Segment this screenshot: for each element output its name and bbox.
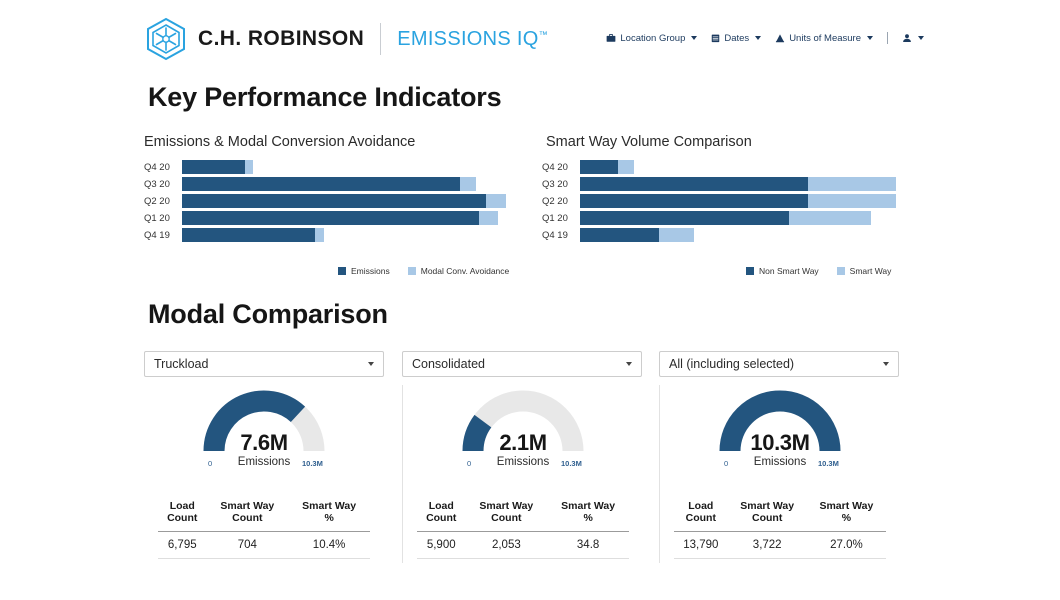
bar-segment-emissions (182, 177, 460, 191)
bar-category-label: Q2 20 (144, 196, 182, 207)
gauge-caption-label: Emissions (403, 456, 643, 468)
legend-swatch-icon (837, 267, 845, 275)
brand-lockup: C.H. ROBINSON EMISSIONS IQ™ (144, 17, 548, 61)
bar-category-label: Q4 20 (144, 162, 182, 173)
table-cell: 27.0% (807, 532, 886, 559)
mode-select[interactable]: Truckload (144, 351, 384, 377)
bar-segment-non-smart-way (580, 211, 789, 225)
table-row: 5,9002,05334.8 (417, 532, 629, 559)
service-select-value: Consolidated (412, 357, 485, 371)
bar-segment-non-smart-way (580, 194, 808, 208)
bar-row: Q2 20 (144, 194, 514, 208)
gauge-caption-label: Emissions (144, 456, 384, 468)
nav-dates-label: Dates (724, 33, 749, 44)
table-column-header: LoadCount (158, 497, 206, 532)
legend-label: Smart Way (850, 266, 892, 276)
bar-segment-emissions (182, 228, 315, 242)
gauge-caption-label: Emissions (660, 456, 900, 468)
table-cell: 2,053 (465, 532, 547, 559)
bar-track (182, 194, 514, 208)
user-icon (902, 33, 912, 43)
emissions-bar-chart: Q4 20Q3 20Q2 20Q1 20Q4 19 (144, 160, 514, 245)
gauge-max-label: 10.3M (818, 459, 839, 468)
bar-category-label: Q2 20 (542, 196, 580, 207)
bar-track (182, 177, 514, 191)
chevron-down-icon (918, 36, 924, 40)
trademark-symbol: ™ (539, 29, 548, 39)
bar-row: Q3 20 (144, 177, 514, 191)
chevron-down-icon (755, 36, 761, 40)
bar-category-label: Q4 20 (542, 162, 580, 173)
brand-divider (380, 23, 381, 55)
legend-swatch-icon (338, 267, 346, 275)
bar-segment-modal-conv-avoidance (486, 194, 507, 208)
bar-segment-non-smart-way (580, 177, 808, 191)
modal-panel-all: 10.3MEmissions010.3MLoadCountSmart WayCo… (659, 385, 899, 563)
nav-divider (887, 32, 888, 44)
bar-row: Q4 20 (144, 160, 514, 174)
table-row: 6,79570410.4% (158, 532, 370, 559)
chart-title-smartway: Smart Way Volume Comparison (546, 134, 752, 150)
bar-track (182, 160, 514, 174)
bar-category-label: Q4 19 (542, 230, 580, 241)
chevron-down-icon (626, 362, 632, 366)
bar-segment-emissions (182, 160, 245, 174)
bar-segment-modal-conv-avoidance (315, 228, 324, 242)
chevron-down-icon (867, 36, 873, 40)
bar-row: Q2 20 (542, 194, 912, 208)
bar-category-label: Q1 20 (542, 213, 580, 224)
bar-segment-modal-conv-avoidance (479, 211, 498, 225)
smartway-chart-legend: Non Smart WaySmart Way (746, 266, 891, 276)
nav-account[interactable] (902, 33, 924, 43)
chart-title-emissions: Emissions & Modal Conversion Avoidance (144, 134, 415, 150)
bar-segment-smart-way (789, 211, 871, 225)
gauge-value-label: 2.1M (403, 430, 643, 456)
bar-category-label: Q3 20 (144, 179, 182, 190)
chevron-down-icon (883, 362, 889, 366)
legend-label: Modal Conv. Avoidance (421, 266, 510, 276)
legend-label: Non Smart Way (759, 266, 819, 276)
bar-track (580, 177, 912, 191)
table-column-header: Smart WayCount (728, 497, 807, 532)
emissions-chart-legend: EmissionsModal Conv. Avoidance (338, 266, 509, 276)
bar-row: Q1 20 (542, 211, 912, 225)
dashboard-page: C.H. ROBINSON EMISSIONS IQ™ Location Gro… (0, 0, 1060, 600)
legend-swatch-icon (746, 267, 754, 275)
product-name-text: EMISSIONS IQ (397, 28, 538, 50)
page-title-modal: Modal Comparison (148, 299, 388, 330)
table-cell: 13,790 (674, 532, 728, 559)
bar-segment-smart-way (808, 194, 897, 208)
bar-segment-modal-conv-avoidance (245, 160, 253, 174)
metrics-table: LoadCountSmart WayCountSmart Way%13,7903… (674, 497, 886, 559)
legend-item[interactable]: Emissions (338, 266, 390, 276)
table-cell: 3,722 (728, 532, 807, 559)
bar-segment-smart-way (659, 228, 694, 242)
table-header-row: LoadCountSmart WayCountSmart Way% (674, 497, 886, 532)
legend-item[interactable]: Modal Conv. Avoidance (408, 266, 510, 276)
bar-category-label: Q1 20 (144, 213, 182, 224)
chevron-down-icon (691, 36, 697, 40)
table-cell: 5,900 (417, 532, 465, 559)
bar-track (580, 194, 912, 208)
nav-location-group-label: Location Group (620, 33, 685, 44)
gauge-min-label: 0 (467, 459, 471, 468)
bar-row: Q4 19 (542, 228, 912, 242)
gauge-value-label: 10.3M (660, 430, 900, 456)
legend-item[interactable]: Smart Way (837, 266, 892, 276)
hexagon-snowflake-logo-icon (144, 17, 188, 61)
table-column-header: Smart Way% (547, 497, 629, 532)
nav-units-of-measure-label: Units of Measure (789, 33, 861, 44)
bar-segment-smart-way (808, 177, 897, 191)
modal-panel-truckload: 7.6MEmissions010.3MLoadCountSmart WayCou… (144, 385, 384, 563)
table-row: 13,7903,72227.0% (674, 532, 886, 559)
table-cell: 6,795 (158, 532, 206, 559)
bar-row: Q1 20 (144, 211, 514, 225)
legend-swatch-icon (408, 267, 416, 275)
nav-location-group[interactable]: Location Group (606, 33, 697, 44)
table-column-header: Smart WayCount (465, 497, 547, 532)
service-select[interactable]: Consolidated (402, 351, 642, 377)
legend-item[interactable]: Non Smart Way (746, 266, 819, 276)
bar-segment-non-smart-way (580, 228, 659, 242)
bar-track (580, 160, 912, 174)
table-cell: 34.8 (547, 532, 629, 559)
nav-dates[interactable]: Dates (711, 33, 761, 44)
app-header: C.H. ROBINSON EMISSIONS IQ™ Location Gro… (0, 0, 1060, 72)
bar-category-label: Q3 20 (542, 179, 580, 190)
table-column-header: Smart WayCount (206, 497, 288, 532)
gauge-max-label: 10.3M (302, 459, 323, 468)
bar-track (182, 228, 514, 242)
table-cell: 10.4% (288, 532, 370, 559)
bar-segment-non-smart-way (580, 160, 618, 174)
table-column-header: Smart Way% (807, 497, 886, 532)
modal-panel-consolidated: 2.1MEmissions010.3MLoadCountSmart WayCou… (402, 385, 642, 563)
table-column-header: LoadCount (417, 497, 465, 532)
scale-icon (775, 33, 785, 43)
bar-track (580, 228, 912, 242)
bar-segment-modal-conv-avoidance (460, 177, 476, 191)
table-header-row: LoadCountSmart WayCountSmart Way% (417, 497, 629, 532)
table-column-header: Smart Way% (288, 497, 370, 532)
legend-label: Emissions (351, 266, 390, 276)
bar-segment-smart-way (618, 160, 634, 174)
page-title-kpi: Key Performance Indicators (148, 82, 501, 113)
scope-select-value: All (including selected) (669, 357, 794, 371)
gauge-max-label: 10.3M (561, 459, 582, 468)
table-column-header: LoadCount (674, 497, 728, 532)
bar-segment-emissions (182, 211, 479, 225)
scope-select[interactable]: All (including selected) (659, 351, 899, 377)
chevron-down-icon (368, 362, 374, 366)
bar-track (580, 211, 912, 225)
product-name: EMISSIONS IQ™ (397, 28, 548, 51)
bar-segment-emissions (182, 194, 486, 208)
mode-select-value: Truckload (154, 357, 208, 371)
smartway-bar-chart: Q4 20Q3 20Q2 20Q1 20Q4 19 (542, 160, 912, 245)
gauge-chart: 7.6MEmissions010.3M (144, 385, 384, 477)
gauge-value-label: 7.6M (144, 430, 384, 456)
briefcase-icon (606, 33, 616, 43)
gauge-chart: 10.3MEmissions010.3M (660, 385, 900, 477)
nav-units-of-measure[interactable]: Units of Measure (775, 33, 873, 44)
metrics-table: LoadCountSmart WayCountSmart Way%5,9002,… (417, 497, 629, 559)
gauge-chart: 2.1MEmissions010.3M (403, 385, 643, 477)
calendar-icon (711, 33, 720, 43)
brand-name: C.H. ROBINSON (198, 27, 364, 51)
bar-category-label: Q4 19 (144, 230, 182, 241)
bar-track (182, 211, 514, 225)
gauge-min-label: 0 (724, 459, 728, 468)
bar-row: Q4 20 (542, 160, 912, 174)
bar-row: Q3 20 (542, 177, 912, 191)
table-cell: 704 (206, 532, 288, 559)
gauge-min-label: 0 (208, 459, 212, 468)
bar-row: Q4 19 (144, 228, 514, 242)
table-header-row: LoadCountSmart WayCountSmart Way% (158, 497, 370, 532)
top-navigation: Location Group Dates (606, 32, 924, 44)
metrics-table: LoadCountSmart WayCountSmart Way%6,79570… (158, 497, 370, 559)
